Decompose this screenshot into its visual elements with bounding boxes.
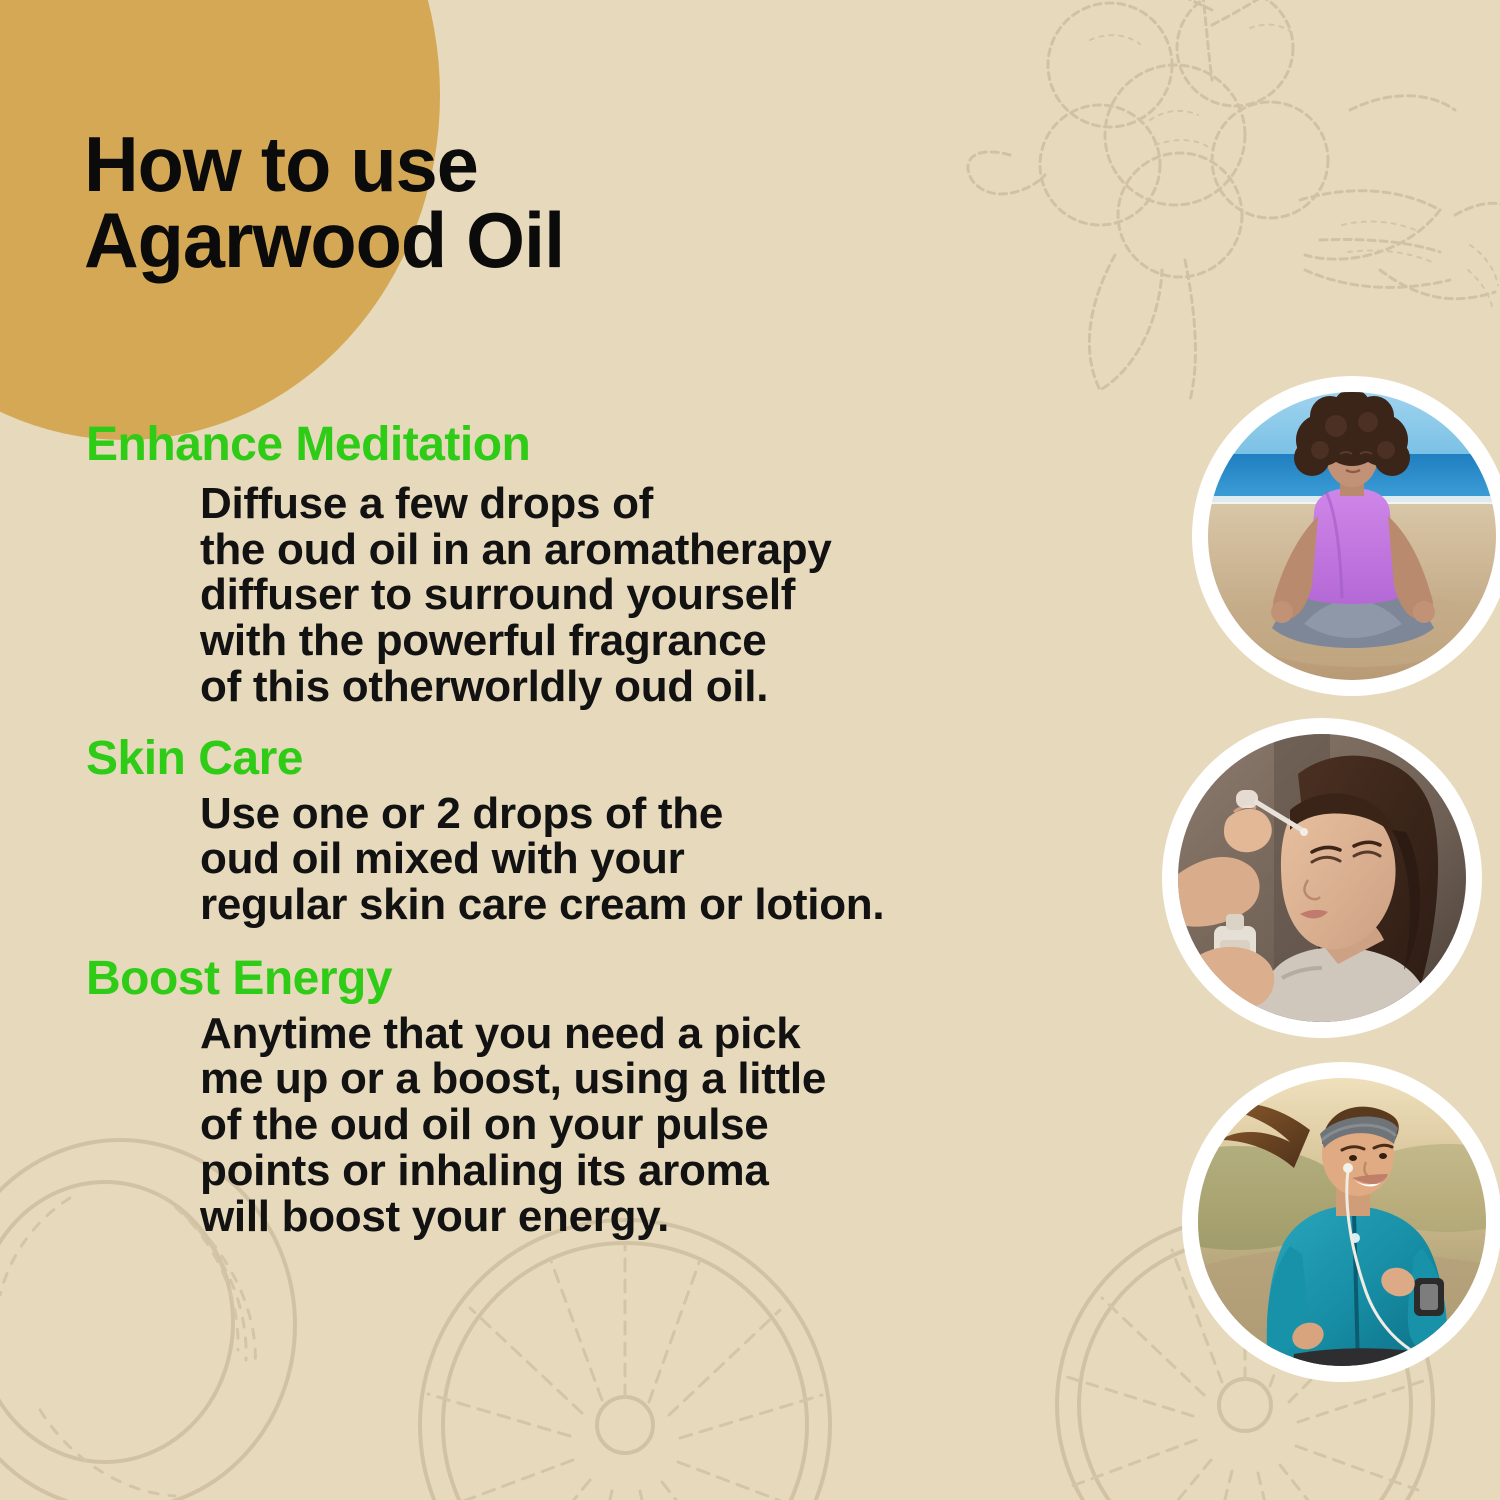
photo-meditation-image: [1208, 392, 1496, 680]
body-line: of the oud oil on your pulse: [200, 1102, 1120, 1148]
section-boost-energy: Boost Energy Anytime that you need a pic…: [0, 954, 1120, 1240]
body-line: with the powerful fragrance: [200, 618, 1120, 664]
body-line: diffuser to surround yourself: [200, 572, 1120, 618]
body-line: regular skin care cream or lotion.: [200, 882, 1120, 928]
body-line: Use one or 2 drops of the: [200, 791, 1120, 837]
usage-sections: Enhance Meditation Diffuse a few drops o…: [0, 420, 1120, 1239]
photo-boost-energy: [1182, 1062, 1500, 1382]
photo-skin-care: [1162, 718, 1482, 1038]
title-line-1: How to use: [84, 126, 879, 202]
section-heading: Enhance Meditation: [0, 420, 1120, 471]
botanical-fruit-branch-watermark: [950, 0, 1500, 440]
title-line-2: Agarwood Oil: [84, 202, 879, 278]
section-heading: Skin Care: [0, 734, 1120, 785]
section-body: Use one or 2 drops of the oud oil mixed …: [0, 791, 1120, 928]
section-heading: Boost Energy: [0, 954, 1120, 1005]
body-line: will boost your energy.: [200, 1194, 1120, 1240]
section-skin-care: Skin Care Use one or 2 drops of the oud …: [0, 734, 1120, 928]
section-enhance-meditation: Enhance Meditation Diffuse a few drops o…: [0, 420, 1120, 710]
body-line: oud oil mixed with your: [200, 836, 1120, 882]
infographic-poster: How to use Agarwood Oil Enhance Meditati…: [0, 0, 1500, 1500]
body-line: me up or a boost, using a little: [200, 1056, 1120, 1102]
body-line: Diffuse a few drops of: [200, 481, 1120, 527]
photo-skin-care-image: [1178, 734, 1466, 1022]
body-line: the oud oil in an aromatherapy: [200, 527, 1120, 573]
body-line: points or inhaling its aroma: [200, 1148, 1120, 1194]
section-body: Diffuse a few drops of the oud oil in an…: [0, 481, 1120, 710]
photo-meditation: [1192, 376, 1500, 696]
photo-boost-energy-image: [1198, 1078, 1486, 1366]
body-line: of this otherworldly oud oil.: [200, 664, 1120, 710]
body-line: Anytime that you need a pick: [200, 1011, 1120, 1057]
page-title: How to use Agarwood Oil: [84, 126, 904, 279]
section-body: Anytime that you need a pick me up or a …: [0, 1011, 1120, 1240]
